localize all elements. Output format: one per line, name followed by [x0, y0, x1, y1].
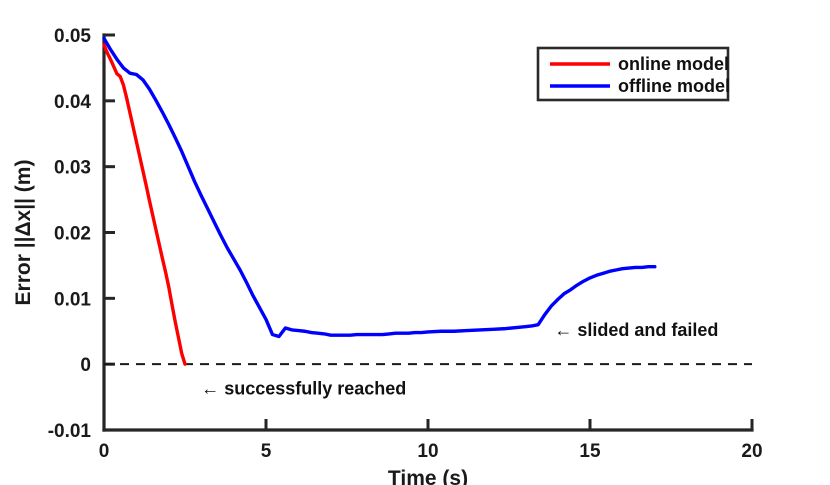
legend-label-offline-model[interactable]: offline model [618, 76, 730, 96]
y-tick-label: 0.04 [54, 92, 91, 113]
line-chart: -0.0100.010.020.030.040.05 05101520 ← sl… [0, 0, 830, 485]
legend-label-online-model[interactable]: online model [618, 54, 729, 74]
x-tick-label: 0 [99, 441, 110, 462]
y-axis-title: Error ||Δx|| (m) [12, 160, 35, 306]
x-tick-label: 15 [579, 441, 601, 462]
y-tick-label: 0.03 [54, 158, 91, 179]
y-tick-label: 0 [80, 355, 91, 376]
x-axis-title: Time (s) [388, 467, 468, 485]
y-tick-label: 0.01 [54, 289, 91, 310]
chart-container: -0.0100.010.020.030.040.05 05101520 ← sl… [0, 0, 830, 485]
annotation-slided-and-failed: ← slided and failed [554, 320, 718, 340]
annotation-successfully-reached: ← successfully reached [201, 379, 406, 399]
y-tick-label: -0.01 [48, 421, 92, 442]
y-tick-label: 0.02 [54, 224, 91, 245]
x-tick-label: 10 [417, 441, 438, 462]
y-tick-label: 0.05 [54, 26, 91, 47]
x-tick-label: 20 [741, 441, 762, 462]
x-tick-label: 5 [261, 441, 272, 462]
chart-legend[interactable]: online modeloffline model [538, 48, 730, 100]
